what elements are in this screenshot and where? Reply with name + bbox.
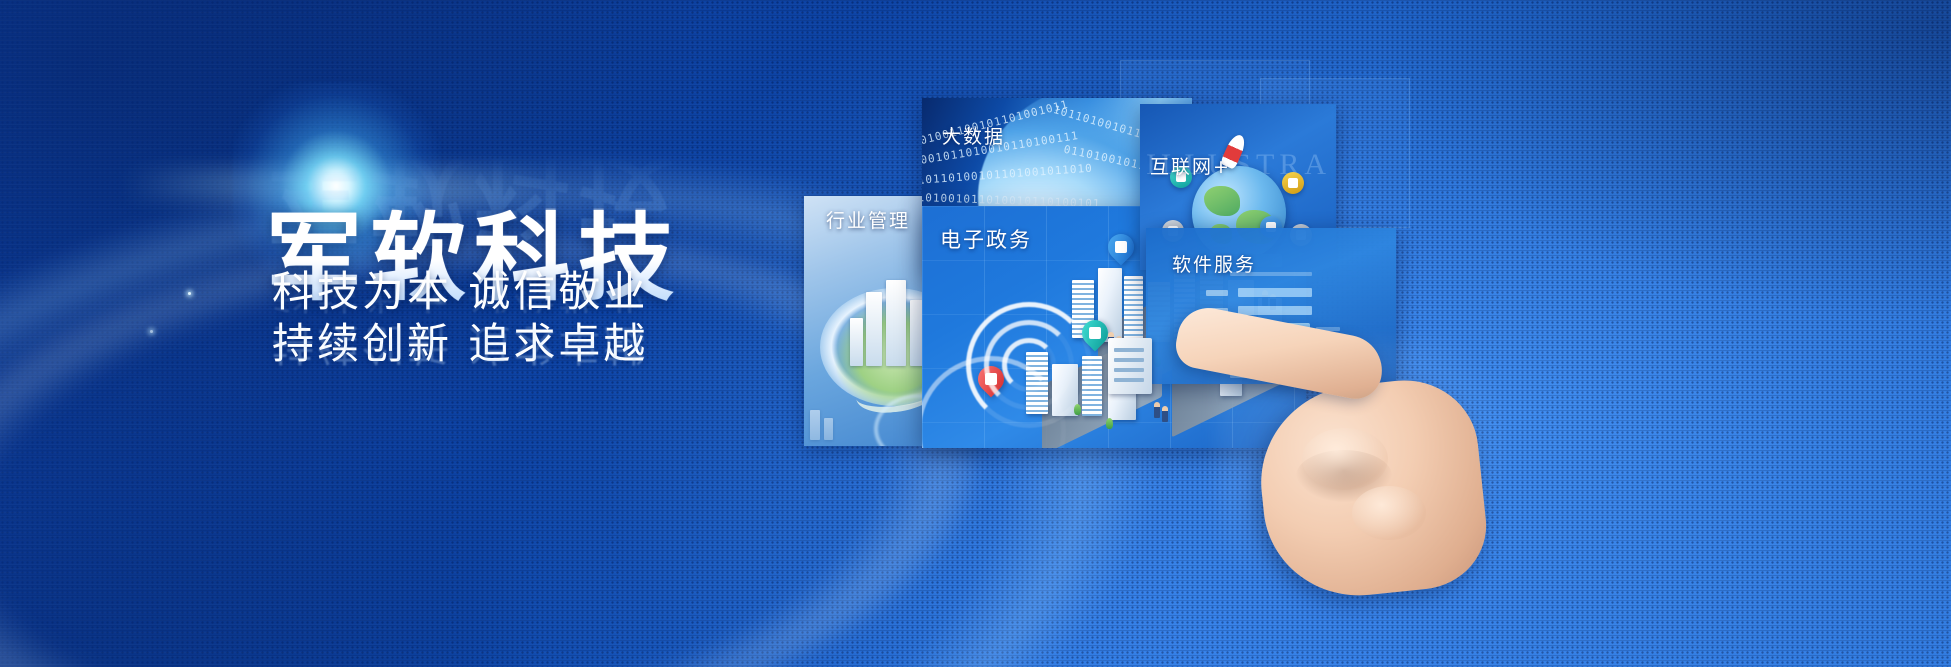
building-shape: [886, 280, 906, 366]
building-shape: [824, 418, 833, 440]
person-figure: [1162, 406, 1168, 422]
knuckle-highlight: [1352, 486, 1426, 540]
slogan-reflection: 持续创新 追求卓越 科技为本 诚信敬业: [272, 266, 732, 370]
card-label-big-data: 大数据: [942, 122, 1005, 149]
server-rack-icon: [1108, 338, 1152, 394]
card-label-internet-plus: 互联网+: [1150, 152, 1231, 179]
landmass-shape: [1204, 186, 1240, 216]
slogan-line-1-reflection: 科技为本 诚信敬业: [272, 266, 732, 318]
sparkle-icon: [150, 330, 153, 333]
node-yellow-icon[interactable]: [1282, 172, 1304, 194]
form-label: [1206, 290, 1228, 296]
person-figure: [1154, 402, 1160, 418]
card-label-software-service: 软件服务: [1172, 250, 1256, 277]
knuckle-highlight: [1302, 428, 1388, 490]
building-shape: [810, 410, 820, 440]
building-shape: [850, 318, 863, 366]
banner-hero: 军软科技 军软科技 科技为本 诚信敬业 持续创新 追求卓越 持续创新 追求卓越 …: [0, 0, 1951, 667]
sparkle-icon: [188, 292, 191, 295]
pointing-hand: [1176, 300, 1506, 600]
card-label-e-government: 电子政务: [940, 224, 1032, 254]
card-label-industry-management: 行业管理: [826, 206, 910, 233]
iso-building: [1124, 276, 1143, 340]
form-input-field[interactable]: [1238, 288, 1312, 297]
building-shape: [866, 292, 882, 366]
slogan-line-2-reflection: 持续创新 追求卓越: [272, 318, 732, 370]
tree-icon: [1106, 418, 1113, 429]
